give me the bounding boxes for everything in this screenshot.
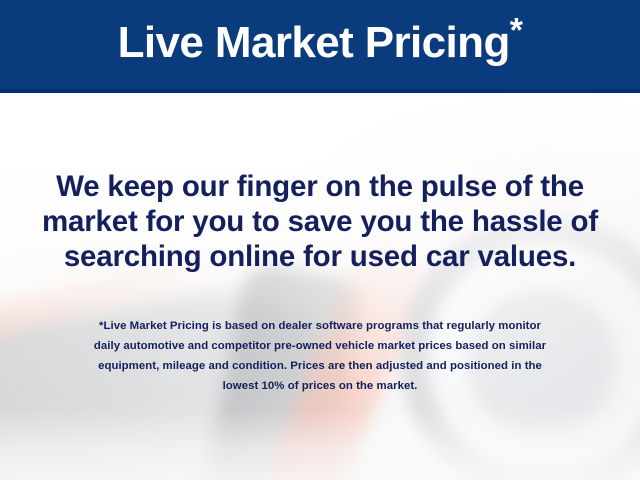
- page-title-asterisk: *: [510, 11, 523, 49]
- disclaimer-line-1: *Live Market Pricing is based on dealer …: [20, 316, 620, 336]
- disclaimer-line-4: lowest 10% of prices on the market.: [20, 376, 620, 396]
- header-banner: Live Market Pricing*: [0, 0, 640, 93]
- content-area: We keep our finger on the pulse of the m…: [0, 93, 640, 480]
- headline-line-3: searching online for used car values.: [20, 239, 620, 274]
- page-title: Live Market Pricing*: [118, 21, 523, 69]
- headline-line-1: We keep our finger on the pulse of the: [20, 169, 620, 204]
- disclaimer-line-3: equipment, mileage and condition. Prices…: [20, 356, 620, 376]
- headline-line-2: market for you to save you the hassle of: [20, 204, 620, 239]
- live-market-pricing-card: Live Market Pricing* We keep our finger …: [0, 0, 640, 480]
- disclaimer: *Live Market Pricing is based on dealer …: [20, 316, 620, 396]
- disclaimer-line-2: daily automotive and competitor pre-owne…: [20, 336, 620, 356]
- headline: We keep our finger on the pulse of the m…: [20, 169, 620, 274]
- page-title-text: Live Market Pricing: [118, 18, 510, 67]
